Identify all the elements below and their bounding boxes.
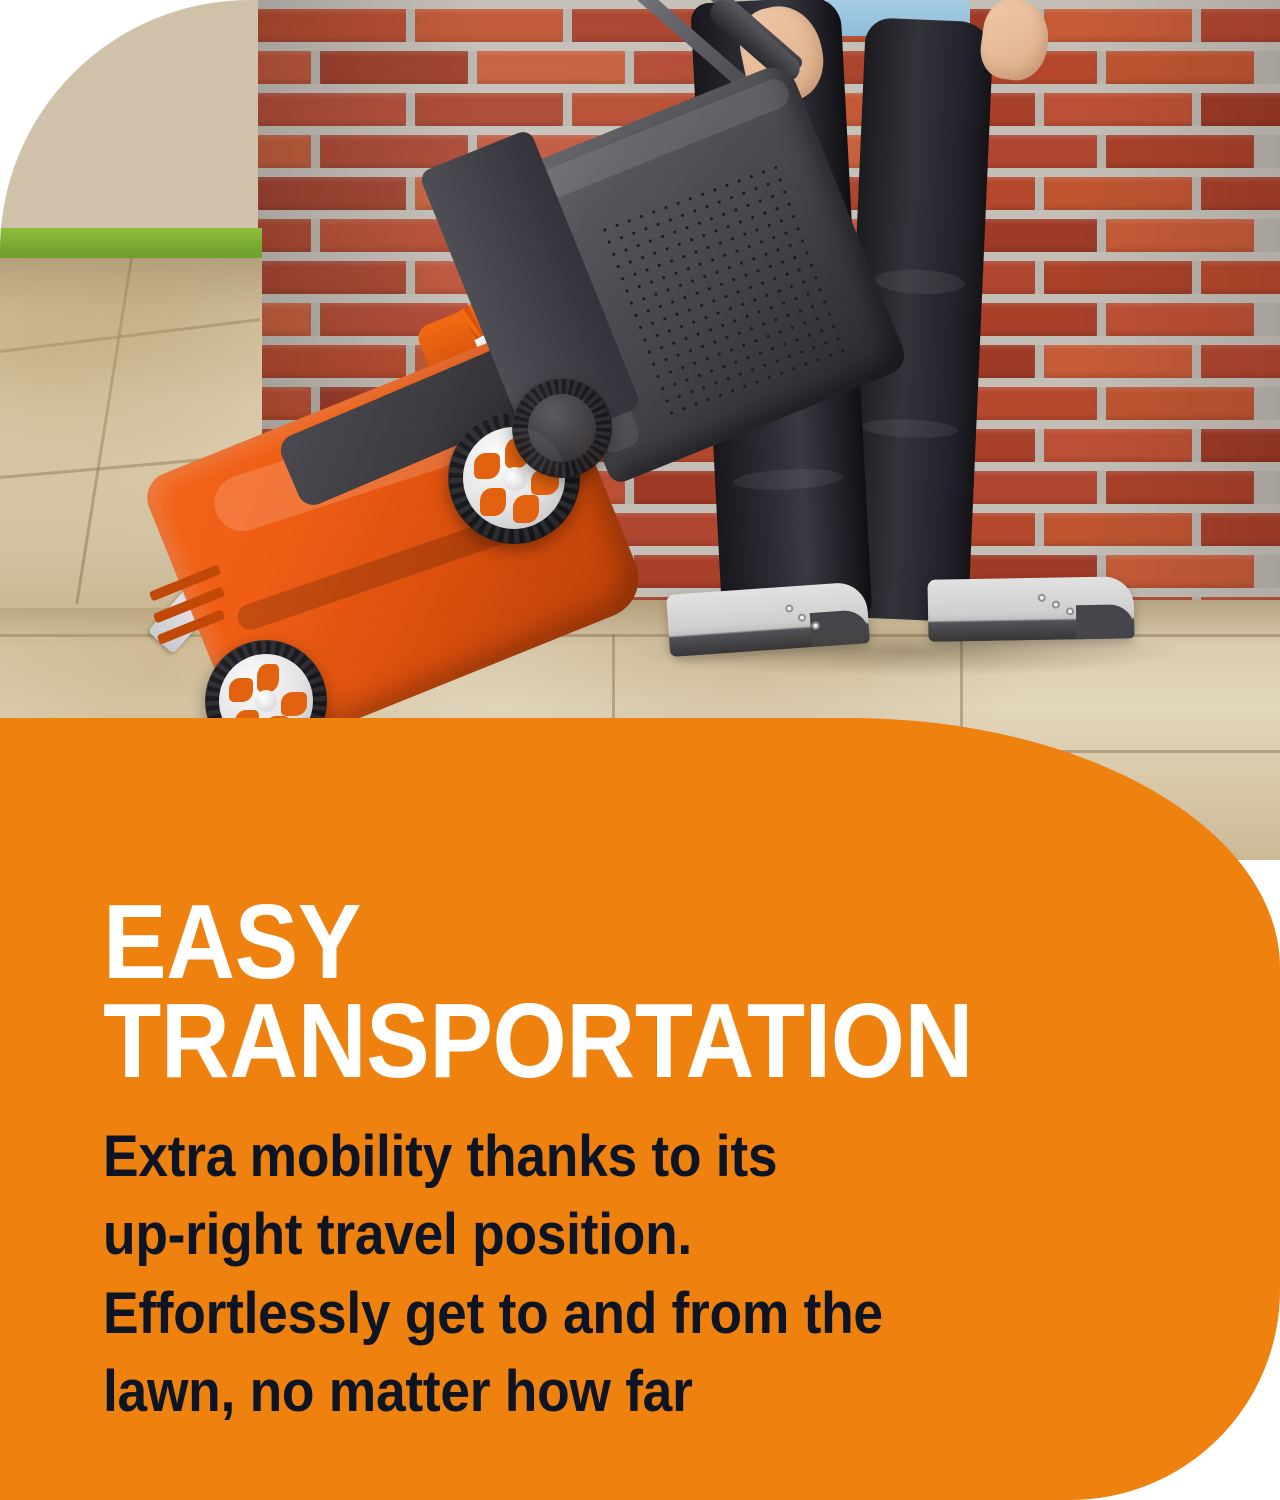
- brick: [1106, 219, 1254, 252]
- brick: [1201, 177, 1280, 210]
- brick: [258, 303, 311, 336]
- brick: [320, 51, 468, 84]
- fabric-fold: [874, 268, 965, 296]
- brick: [1044, 261, 1192, 294]
- shoe-eyelet: [798, 613, 807, 622]
- brick: [1201, 93, 1280, 126]
- brick: [258, 345, 406, 378]
- paving-joint: [0, 318, 260, 353]
- wheel-rim: [528, 394, 596, 462]
- brick: [1201, 345, 1280, 378]
- collector-mesh-panel: [597, 159, 852, 420]
- person-ground-shadow: [640, 626, 1180, 676]
- brick: [415, 93, 563, 126]
- brick: [1044, 345, 1192, 378]
- brick: [1201, 261, 1280, 294]
- brick: [477, 51, 625, 84]
- fabric-fold: [862, 417, 959, 439]
- brick: [258, 219, 311, 252]
- brick: [1201, 9, 1280, 42]
- brick: [1106, 471, 1254, 504]
- paving-joint: [75, 258, 133, 604]
- rim-spoke-gap: [474, 453, 500, 479]
- rim-spoke-gap: [480, 488, 506, 516]
- brick: [1044, 177, 1192, 210]
- brick: [258, 261, 406, 294]
- brick: [258, 93, 406, 126]
- brick: [1106, 303, 1254, 336]
- rim-spoke-gap: [229, 678, 253, 702]
- fabric-fold: [733, 467, 844, 493]
- wheel-hub: [503, 467, 527, 491]
- secondary-wheel: [512, 378, 612, 478]
- brick: [1106, 555, 1254, 588]
- page-title: EASY TRANSPORTATION: [103, 893, 973, 1090]
- brick: [1044, 9, 1192, 42]
- brick: [1044, 93, 1192, 126]
- hedge: [0, 0, 262, 232]
- brick: [1201, 429, 1280, 462]
- brick: [258, 135, 311, 168]
- brick: [258, 51, 311, 84]
- brick: [258, 387, 311, 420]
- shoe-eyelet: [1052, 600, 1060, 608]
- shoe-eyelet: [1038, 594, 1046, 602]
- brick: [258, 177, 406, 210]
- brick: [415, 9, 563, 42]
- brick: [258, 9, 406, 42]
- orange-text-panel: EASY TRANSPORTATION Extra mobility thank…: [0, 718, 1280, 1500]
- rim-spoke-gap: [281, 692, 307, 716]
- brick: [1106, 51, 1254, 84]
- rim-spoke-gap: [257, 664, 279, 692]
- brick: [1201, 513, 1280, 546]
- brick: [1106, 135, 1254, 168]
- brick: [1044, 513, 1192, 546]
- body-copy: Extra mobility thanks to its up-right tr…: [103, 1118, 1106, 1431]
- shoe-eyelet: [1066, 607, 1074, 615]
- shoe-eyelet: [785, 604, 794, 613]
- marketing-poster: EASY TRANSPORTATION Extra mobility thank…: [0, 0, 1280, 1500]
- wheel-hub: [255, 690, 277, 712]
- rim-spoke-gap: [513, 495, 539, 523]
- brick: [1044, 429, 1192, 462]
- brick: [1106, 387, 1254, 420]
